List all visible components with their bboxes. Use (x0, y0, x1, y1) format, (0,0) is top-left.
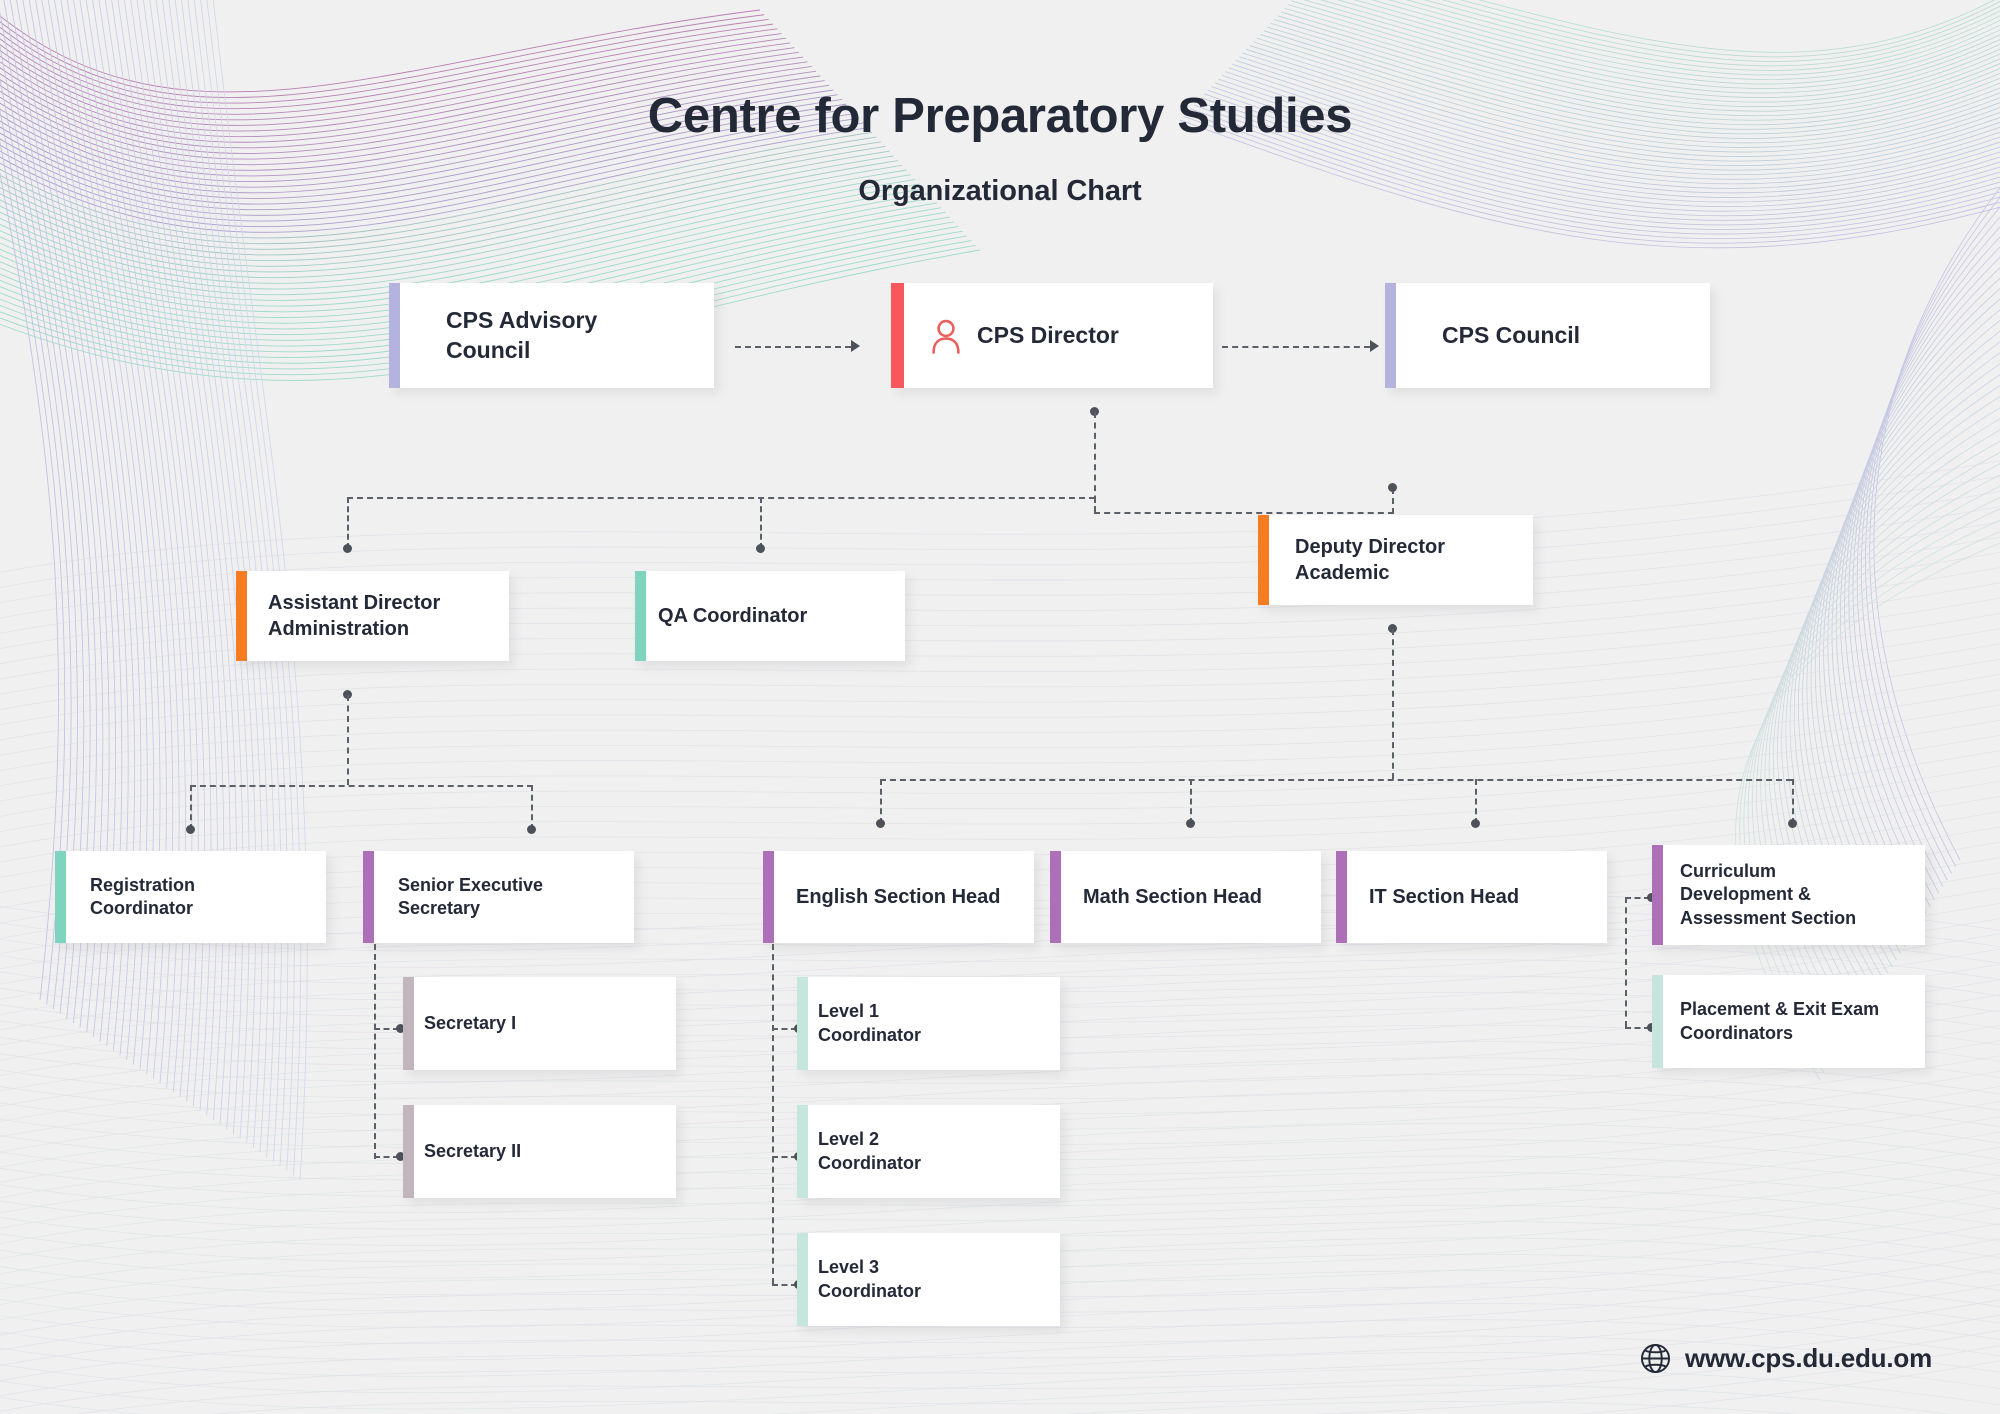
node-cps-advisory-council[interactable]: CPS Advisory Council (389, 283, 714, 388)
node-label: Math Section Head (1083, 884, 1262, 910)
node-secretary-2[interactable]: Secretary II (403, 1105, 676, 1198)
connector-to-english (880, 779, 882, 824)
node-accent-bar (797, 1233, 808, 1326)
connector-deputy-bus (880, 779, 1792, 781)
node-accent-bar (891, 283, 904, 388)
node-accent-bar (403, 977, 414, 1070)
connector-director-bus-left (347, 497, 1095, 499)
node-label: CPS Director (977, 321, 1119, 351)
connector-assistant-bus (190, 785, 533, 787)
node-accent-bar (1385, 283, 1396, 388)
node-level2-coordinator[interactable]: Level 2 Coordinator (797, 1105, 1060, 1198)
node-label: Placement & Exit Exam Coordinators (1680, 998, 1879, 1045)
node-english-section-head[interactable]: English Section Head (763, 851, 1034, 943)
connector-to-qa (760, 497, 762, 549)
connector-bus-drop (1094, 497, 1096, 513)
node-accent-bar (55, 851, 66, 943)
connector-director-bus-right (1094, 512, 1394, 514)
node-level1-coordinator[interactable]: Level 1 Coordinator (797, 977, 1060, 1070)
connector-to-math (1190, 779, 1192, 824)
org-chart-canvas: Centre for Preparatory Studies Organizat… (0, 0, 2000, 1414)
node-placement-exit-exam-coordinators[interactable]: Placement & Exit Exam Coordinators (1652, 975, 1925, 1068)
node-label: Curriculum Development & Assessment Sect… (1680, 860, 1856, 930)
node-accent-bar (635, 571, 646, 661)
node-cps-director[interactable]: CPS Director (891, 283, 1213, 388)
connector-assistant-stem (347, 695, 349, 785)
node-cps-council[interactable]: CPS Council (1385, 283, 1710, 388)
node-accent-bar (389, 283, 400, 388)
dot-curriculum-branch-top (1788, 819, 1797, 828)
node-label: English Section Head (796, 884, 1000, 910)
node-label: Registration Coordinator (90, 874, 195, 921)
connector-to-it (1475, 779, 1477, 824)
node-label: Level 2 Coordinator (818, 1128, 921, 1175)
node-accent-bar (1258, 515, 1269, 605)
node-label: Level 3 Coordinator (818, 1256, 921, 1303)
node-label: IT Section Head (1369, 884, 1519, 910)
node-accent-bar (1652, 975, 1663, 1068)
node-assistant-director-administration[interactable]: Assistant Director Administration (236, 571, 509, 661)
footer: www.cps.du.edu.om (1640, 1343, 1932, 1374)
dot-assistant-director-top (343, 544, 352, 553)
node-accent-bar (1050, 851, 1061, 943)
node-level3-coordinator[interactable]: Level 3 Coordinator (797, 1233, 1060, 1326)
node-accent-bar (1336, 851, 1347, 943)
node-label: Assistant Director Administration (268, 590, 440, 642)
globe-icon (1640, 1343, 1671, 1374)
node-qa-coordinator[interactable]: QA Coordinator (635, 571, 905, 661)
node-deputy-director-academic[interactable]: Deputy Director Academic (1258, 515, 1533, 605)
connector-advisory-to-director (735, 346, 851, 348)
node-label: Deputy Director Academic (1295, 534, 1445, 586)
dot-math-top (1186, 819, 1195, 828)
node-accent-bar (797, 977, 808, 1070)
node-accent-bar (1652, 845, 1663, 945)
node-math-section-head[interactable]: Math Section Head (1050, 851, 1321, 943)
connector-deputy-stem (1392, 629, 1394, 779)
dot-it-top (1471, 819, 1480, 828)
website-url: www.cps.du.edu.om (1685, 1343, 1932, 1374)
dot-senior-secretary-top (527, 825, 536, 834)
arrow-director-to-council (1370, 340, 1379, 352)
connector-to-curriculum-branch (1792, 779, 1794, 824)
dot-registration-top (186, 825, 195, 834)
node-it-section-head[interactable]: IT Section Head (1336, 851, 1607, 943)
dot-qa-top (756, 544, 765, 553)
node-accent-bar (403, 1105, 414, 1198)
page-subtitle: Organizational Chart (0, 175, 2000, 208)
connector-to-senior-secretary (531, 785, 533, 830)
connector-curriculum-stem (1625, 897, 1627, 1027)
dot-deputy-top (1388, 483, 1397, 492)
node-accent-bar (797, 1105, 808, 1198)
page-title: Centre for Preparatory Studies (0, 88, 2000, 144)
node-label: Secretary I (424, 1012, 516, 1035)
node-label: QA Coordinator (658, 603, 807, 629)
decorative-wave-background (0, 0, 2000, 1414)
person-icon (929, 318, 963, 354)
dot-english-top (876, 819, 885, 828)
connector-level-stem (772, 944, 774, 1284)
node-label: CPS Council (1442, 321, 1580, 351)
arrow-advisory-to-director (851, 340, 860, 352)
node-label: Level 1 Coordinator (818, 1000, 921, 1047)
node-senior-executive-secretary[interactable]: Senior Executive Secretary (363, 851, 634, 943)
node-accent-bar (763, 851, 774, 943)
connector-to-registration (190, 785, 192, 830)
node-accent-bar (363, 851, 374, 943)
node-curriculum-development-assessment-section[interactable]: Curriculum Development & Assessment Sect… (1652, 845, 1925, 945)
node-label: Senior Executive Secretary (398, 874, 543, 921)
node-secretary-1[interactable]: Secretary I (403, 977, 676, 1070)
connector-to-assistant-director (347, 497, 349, 549)
node-accent-bar (236, 571, 247, 661)
node-label: Secretary II (424, 1140, 521, 1163)
node-label: CPS Advisory Council (446, 306, 597, 366)
connector-secretary-stem (374, 944, 376, 1159)
connector-director-to-council (1222, 346, 1370, 348)
node-registration-coordinator[interactable]: Registration Coordinator (55, 851, 326, 943)
